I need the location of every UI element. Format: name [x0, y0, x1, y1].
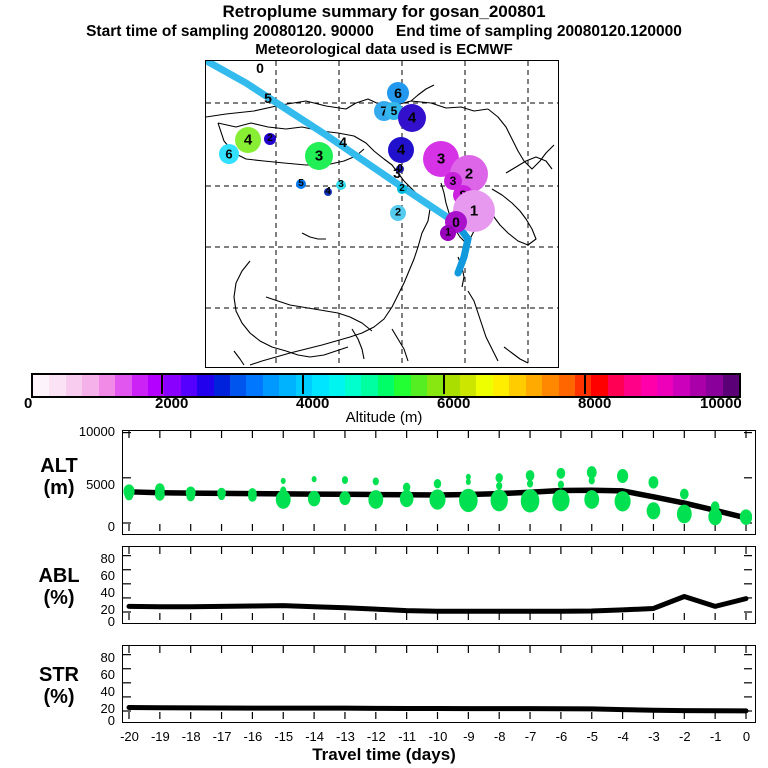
colorbar-swatch [99, 375, 115, 396]
y-axis-tick: 80 [55, 650, 115, 665]
abl-graphic [123, 547, 752, 620]
x-axis-tick: -12 [361, 729, 391, 744]
colorbar-swatch [624, 375, 640, 396]
x-axis-tick: -3 [639, 729, 669, 744]
x-axis-tick: -2 [670, 729, 700, 744]
colorbar-swatch [476, 375, 492, 396]
colorbar-swatch [345, 375, 361, 396]
map-point-day-label: 3 [450, 175, 457, 187]
colorbar-swatch [33, 375, 49, 396]
colorbar-swatch [427, 375, 443, 396]
abl-plot[interactable] [122, 546, 756, 624]
x-axis-tick: -6 [546, 729, 576, 744]
colorbar-swatch [279, 375, 295, 396]
end-time-label: End time of sampling 20080120.120000 [396, 23, 682, 40]
panel-y-ticks [123, 556, 752, 612]
colorbar-swatch [673, 375, 689, 396]
panel-y-ticks [123, 655, 752, 711]
x-axis-tick: -14 [300, 729, 330, 744]
map-point-day-label: 2 [399, 184, 405, 194]
map-point-day-label: 4 [397, 143, 405, 158]
map-point-day-label: 5 [391, 105, 398, 117]
colorbar-swatch [723, 375, 739, 396]
map-trajectory-label: 0 [256, 61, 264, 75]
colorbar-swatch [509, 375, 525, 396]
y-axis-tick: 0 [55, 614, 115, 629]
colorbar-divider [161, 373, 163, 394]
y-axis-tick: 0 [55, 519, 115, 534]
x-axis-tick: -19 [145, 729, 175, 744]
colorbar-swatch [378, 375, 394, 396]
colorbar-swatch [49, 375, 65, 396]
colorbar-swatch [263, 375, 279, 396]
map-point-day-label: 4 [325, 187, 331, 197]
colorbar-swatch [329, 375, 345, 396]
colorbar-swatch [394, 375, 410, 396]
y-axis-tick: 5000 [55, 477, 115, 492]
colorbar-swatch [493, 375, 509, 396]
x-axis-tick: -4 [608, 729, 638, 744]
x-axis-tick: -9 [454, 729, 484, 744]
map-point-day-label: 4 [244, 133, 252, 148]
colorbar-swatch [82, 375, 98, 396]
alt-graphic [123, 431, 752, 531]
str-graphic [123, 646, 752, 719]
colorbar-swatch [230, 375, 246, 396]
map-point-day-label: 3 [315, 149, 323, 164]
map-point-day-label: 6 [225, 148, 232, 161]
sampling-times: Start time of sampling 20080120. 90000En… [0, 22, 768, 41]
map-point-day-label: 2 [267, 134, 273, 144]
x-axis-tick: -5 [577, 729, 607, 744]
met-data-label: Meteorological data used is ECMWF [0, 41, 768, 59]
map-trajectory-label: 5 [264, 91, 272, 105]
map-point-day-label: 2 [395, 208, 401, 219]
y-axis-tick: 40 [55, 684, 115, 699]
colorbar-swatch [591, 375, 607, 396]
colorbar-divider [443, 373, 445, 394]
x-axis-title: Travel time (days) [0, 745, 768, 765]
colorbar-divider [584, 373, 586, 394]
alt-plot[interactable] [122, 430, 756, 535]
map-point-day-label: 5 [298, 179, 304, 189]
colorbar-swatch [66, 375, 82, 396]
colorbar-swatch [181, 375, 197, 396]
mean-line [129, 597, 746, 612]
colorbar-swatch [444, 375, 460, 396]
y-axis-tick: 80 [55, 551, 115, 566]
colorbar-swatch [132, 375, 148, 396]
x-axis-tick: -7 [516, 729, 546, 744]
colorbar-swatch [411, 375, 427, 396]
y-axis-tick: 60 [55, 568, 115, 583]
map-trajectory-label: 3 [393, 166, 401, 180]
y-axis-tick: 40 [55, 585, 115, 600]
x-axis-tick: -15 [269, 729, 299, 744]
colorbar-swatch [657, 375, 673, 396]
colorbar-swatch [460, 375, 476, 396]
start-time-label: Start time of sampling 20080120. 90000 [86, 23, 374, 40]
colorbar-swatch [526, 375, 542, 396]
x-axis-tick: -13 [330, 729, 360, 744]
x-axis-tick: -1 [701, 729, 731, 744]
colorbar-divider [302, 373, 304, 394]
colorbar-swatch [641, 375, 657, 396]
colorbar-swatch [706, 375, 722, 396]
colorbar-swatch [164, 375, 180, 396]
map-point-day-label: 1 [445, 228, 451, 239]
map-point-day-label: 6 [394, 86, 402, 100]
map-trajectory-label: 4 [339, 135, 347, 149]
map-point-day-label: 2 [465, 167, 473, 182]
coastlines [206, 85, 554, 365]
y-axis-tick: 10000 [55, 424, 115, 439]
map-point-day-label: 1 [470, 204, 478, 219]
y-axis-tick: 60 [55, 667, 115, 682]
colorbar-swatch [246, 375, 262, 396]
colorbar-swatch [608, 375, 624, 396]
colorbar-swatch [115, 375, 131, 396]
x-axis-tick: -11 [392, 729, 422, 744]
header-block: Retroplume summary for gosan_200801 Star… [0, 0, 768, 59]
retroplume-map[interactable]: 6423543675443022238101 0543 [205, 60, 559, 368]
y-axis-tick: 0 [55, 713, 115, 728]
colorbar-swatch [214, 375, 230, 396]
map-point-day-label: 3 [338, 180, 344, 190]
str-plot[interactable] [122, 645, 756, 723]
mean-line [129, 707, 746, 710]
map-point-day-label: 4 [408, 111, 416, 126]
colorbar-swatch [197, 375, 213, 396]
colorbar-title: Altitude (m) [0, 409, 768, 426]
x-axis-tick: 0 [732, 729, 762, 744]
x-axis-tick: -8 [485, 729, 515, 744]
x-axis-tick: -17 [207, 729, 237, 744]
page-title: Retroplume summary for gosan_200801 [0, 0, 768, 22]
colorbar-swatch [690, 375, 706, 396]
x-axis-tick: -18 [176, 729, 206, 744]
colorbar-swatch [559, 375, 575, 396]
x-axis-tick: -20 [115, 729, 145, 744]
map-point-day-label: 3 [437, 152, 445, 167]
x-axis-tick: -10 [423, 729, 453, 744]
colorbar-swatch [542, 375, 558, 396]
colorbar-swatch [361, 375, 377, 396]
x-axis-tick: -16 [238, 729, 268, 744]
colorbar-swatch [312, 375, 328, 396]
